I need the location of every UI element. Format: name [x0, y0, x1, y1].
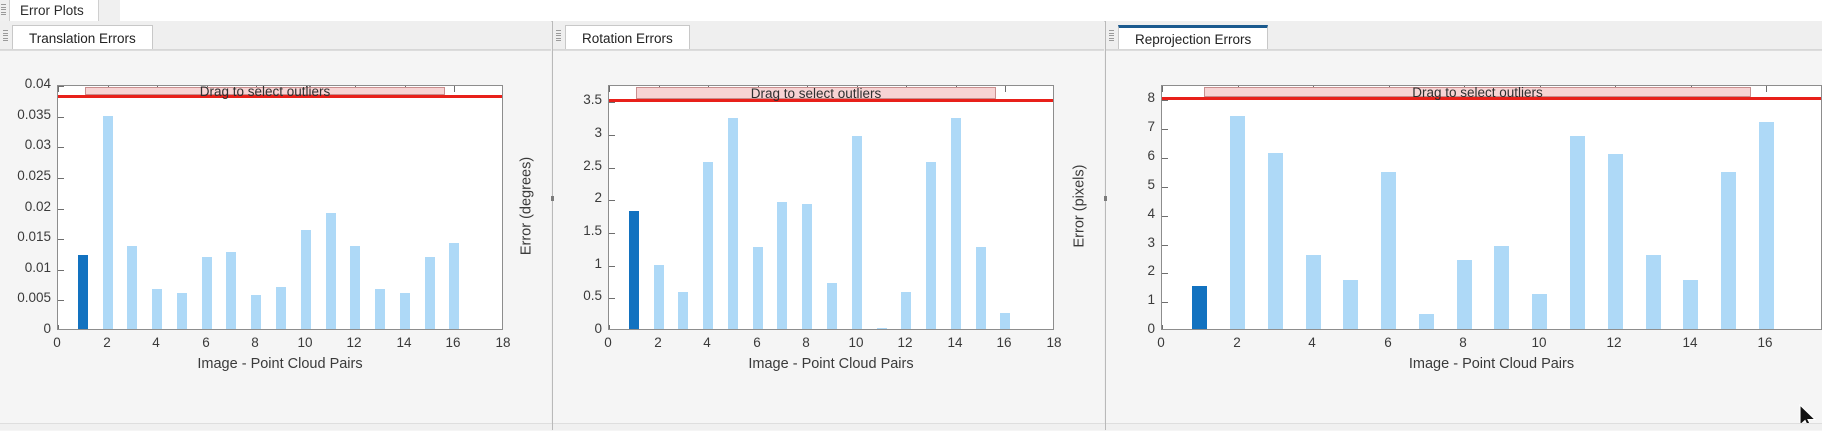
tab-error-plots-label: Error Plots: [20, 3, 84, 18]
bar[interactable]: [777, 202, 787, 329]
y-axis-tick-label: 3: [546, 125, 602, 140]
x-axis-tick-label: 8: [235, 335, 275, 350]
bar[interactable]: [1683, 280, 1698, 329]
bar[interactable]: [152, 289, 162, 329]
y-axis-tick: [609, 298, 615, 299]
bar[interactable]: [226, 252, 236, 329]
bar[interactable]: [728, 118, 738, 329]
x-axis-tick-label: 0: [588, 335, 628, 350]
x-axis-tick-top: [1766, 86, 1767, 92]
y-axis-tick: [1162, 216, 1168, 217]
y-axis-tick-label: 5: [1099, 177, 1155, 192]
bar[interactable]: [1306, 255, 1321, 329]
y-axis-tick-label: 7: [1099, 119, 1155, 134]
x-axis-tick-top: [1162, 86, 1163, 92]
y-axis-tick: [58, 147, 64, 148]
drag-to-select-outliers-band[interactable]: Drag to select outliers: [636, 87, 996, 99]
x-axis-tick-label: 16: [1745, 335, 1785, 350]
x-axis-title: Image - Point Cloud Pairs: [1161, 356, 1822, 372]
bar[interactable]: [1721, 172, 1736, 329]
outlier-band-label: Drag to select outliers: [751, 86, 882, 101]
x-axis-tick-label: 18: [483, 335, 523, 350]
bar[interactable]: [1608, 154, 1623, 329]
x-axis-tick: [1162, 325, 1163, 330]
tab-label: Translation Errors: [29, 31, 136, 46]
bar[interactable]: [301, 230, 311, 329]
y-axis-tick-label: 1: [1099, 292, 1155, 307]
y-axis-tick-label: 0.5: [546, 288, 602, 303]
bar[interactable]: [1457, 260, 1472, 329]
x-axis-tick-label: 12: [334, 335, 374, 350]
tab-error-plots[interactable]: Error Plots: [9, 0, 99, 21]
panel-body: Drag to select outliers00.0050.010.0150.…: [0, 50, 551, 431]
bar[interactable]: [678, 292, 688, 329]
x-axis-tick-label: 2: [87, 335, 127, 350]
bar[interactable]: [951, 118, 961, 329]
y-axis-tick-label: 0.015: [0, 229, 51, 244]
y-axis-tick-label: 2: [1099, 263, 1155, 278]
x-axis-tick-label: 0: [37, 335, 77, 350]
x-axis-tick-label: 8: [1443, 335, 1483, 350]
panel-reprojection-errors: Reprojection ErrorsDrag to select outlie…: [1106, 21, 1822, 430]
bar[interactable]: [926, 162, 936, 329]
y-axis-tick: [58, 209, 64, 210]
drag-grip-icon[interactable]: [1109, 30, 1114, 41]
panel-splitter[interactable]: [552, 21, 553, 430]
y-axis-tick: [609, 135, 615, 136]
bar[interactable]: [425, 257, 435, 329]
x-axis-tick-label: 8: [786, 335, 826, 350]
x-axis-tick-label: 18: [1034, 335, 1074, 350]
x-axis-tick-label: 6: [737, 335, 777, 350]
bar[interactable]: [202, 257, 212, 329]
y-axis-tick: [58, 300, 64, 301]
x-axis-tick-label: 16: [984, 335, 1024, 350]
x-axis-tick-label: 14: [935, 335, 975, 350]
bar[interactable]: [127, 246, 137, 329]
bar[interactable]: [1759, 122, 1774, 329]
x-axis-tick-top: [1005, 86, 1006, 92]
x-axis-tick-label: 10: [285, 335, 325, 350]
y-axis-tick: [609, 102, 615, 103]
bar[interactable]: [654, 265, 664, 329]
panel-tab-row: Rotation Errors: [553, 21, 1104, 50]
bar[interactable]: [400, 293, 410, 329]
drag-grip-icon[interactable]: [3, 30, 8, 41]
bar[interactable]: [251, 295, 261, 329]
y-axis-title: Error (degrees): [518, 83, 534, 328]
panel-body: Drag to select outliers01234567802468101…: [1106, 50, 1822, 431]
x-axis-tick-label: 2: [638, 335, 678, 350]
bar[interactable]: [1343, 280, 1358, 329]
outlier-band-label: Drag to select outliers: [200, 85, 331, 99]
y-axis-tick: [1162, 245, 1168, 246]
bar-selected[interactable]: [78, 255, 88, 329]
y-axis-tick: [609, 266, 615, 267]
y-axis-tick: [58, 178, 64, 179]
tab-reprojection-errors[interactable]: Reprojection Errors: [1118, 25, 1268, 50]
bar-selected[interactable]: [629, 211, 639, 329]
x-axis-tick-label: 12: [1594, 335, 1634, 350]
status-bar: [0, 423, 1822, 430]
x-axis-tick: [58, 325, 59, 330]
x-axis-tick: [609, 325, 610, 330]
plot-area[interactable]: Drag to select outliers: [57, 85, 503, 330]
bar[interactable]: [753, 247, 763, 329]
y-axis-tick-label: 0.04: [0, 76, 51, 91]
y-axis-tick: [1162, 129, 1168, 130]
panel-tab-row: Reprojection Errors: [1106, 21, 1822, 50]
bar[interactable]: [375, 289, 385, 329]
y-axis-tick-label: 4: [1099, 206, 1155, 221]
y-axis-tick-label: 0.025: [0, 168, 51, 183]
x-axis-title: Image - Point Cloud Pairs: [608, 356, 1054, 372]
x-axis-tick-label: 4: [1292, 335, 1332, 350]
x-axis-title: Image - Point Cloud Pairs: [57, 356, 503, 372]
x-axis-tick-label: 16: [433, 335, 473, 350]
x-axis-tick-label: 14: [384, 335, 424, 350]
y-axis-tick-label: 1: [546, 256, 602, 271]
bar[interactable]: [1381, 172, 1396, 329]
panel-body: Drag to select outliers00.511.522.533.50…: [553, 50, 1104, 431]
bar[interactable]: [1494, 246, 1509, 329]
y-axis-tick: [1162, 273, 1168, 274]
y-axis-tick-label: 0.02: [0, 199, 51, 214]
y-axis-tick-label: 2.5: [546, 158, 602, 173]
bar[interactable]: [1230, 116, 1245, 329]
x-axis-tick-top: [454, 86, 455, 92]
y-axis-tick-label: 0.005: [0, 290, 51, 305]
y-axis-tick-label: 1.5: [546, 223, 602, 238]
y-axis-tick: [58, 117, 64, 118]
y-axis-tick: [609, 233, 615, 234]
y-axis-tick-label: 0.03: [0, 137, 51, 152]
y-axis-tick: [1162, 158, 1168, 159]
x-axis-tick-label: 14: [1670, 335, 1710, 350]
y-axis-tick: [58, 270, 64, 271]
bar[interactable]: [276, 287, 286, 329]
y-axis-tick-label: 0.01: [0, 260, 51, 275]
document-tab-strip: Error Plots: [0, 0, 1822, 21]
x-axis-tick-label: 0: [1141, 335, 1181, 350]
y-axis-title: Error (pixels): [1071, 83, 1087, 328]
bar[interactable]: [852, 136, 862, 329]
bar[interactable]: [976, 247, 986, 329]
bar[interactable]: [326, 213, 336, 329]
y-axis-tick-label: 0: [0, 321, 51, 336]
y-axis-tick-label: 2: [546, 190, 602, 205]
bar[interactable]: [877, 328, 887, 329]
bar[interactable]: [901, 292, 911, 329]
y-axis-tick-label: 0: [546, 321, 602, 336]
drag-to-select-outliers-band[interactable]: Drag to select outliers: [85, 87, 445, 95]
y-axis-tick-label: 6: [1099, 148, 1155, 163]
bar[interactable]: [802, 204, 812, 329]
outlier-band-label: Drag to select outliers: [1412, 85, 1543, 100]
bar[interactable]: [1646, 255, 1661, 329]
y-axis-tick-label: 8: [1099, 90, 1155, 105]
y-axis-tick: [609, 168, 615, 169]
tab-rotation-errors[interactable]: Rotation Errors: [565, 25, 690, 50]
drag-grip-icon[interactable]: [556, 30, 561, 41]
x-axis-tick-label: 2: [1217, 335, 1257, 350]
x-axis-tick-label: 6: [1368, 335, 1408, 350]
bar[interactable]: [827, 283, 837, 329]
tab-strip-filler: [120, 0, 1822, 22]
bar[interactable]: [1532, 294, 1547, 329]
panel-splitter[interactable]: [1105, 21, 1106, 430]
x-axis-tick-label: 6: [186, 335, 226, 350]
bar[interactable]: [1570, 136, 1585, 329]
x-axis-tick-label: 10: [1519, 335, 1559, 350]
bar[interactable]: [103, 116, 113, 329]
bar[interactable]: [703, 162, 713, 329]
panel-rotation-errors: Rotation ErrorsDrag to select outliers00…: [553, 21, 1104, 430]
y-axis-tick-label: 3.5: [546, 92, 602, 107]
x-axis-tick-label: 4: [687, 335, 727, 350]
bar[interactable]: [1419, 314, 1434, 329]
x-axis-tick-label: 12: [885, 335, 925, 350]
y-axis-tick: [58, 239, 64, 240]
bar[interactable]: [350, 246, 360, 329]
error-plots-window: Error Plots Translation ErrorsDrag to se…: [0, 0, 1822, 430]
tab-label: Rotation Errors: [582, 31, 673, 46]
plot-area[interactable]: Drag to select outliers: [608, 85, 1054, 330]
bar[interactable]: [1000, 313, 1010, 329]
bar[interactable]: [449, 243, 459, 329]
y-axis-tick: [1162, 302, 1168, 303]
x-axis-tick-label: 4: [136, 335, 176, 350]
tab-translation-errors[interactable]: Translation Errors: [12, 25, 153, 50]
splitter-handle-dot: [551, 196, 554, 201]
bar-selected[interactable]: [1192, 286, 1207, 329]
y-axis-tick: [1162, 187, 1168, 188]
x-axis-tick-top: [609, 86, 610, 92]
drag-grip-icon[interactable]: [1, 4, 6, 15]
bar[interactable]: [177, 293, 187, 329]
panel-translation-errors: Translation ErrorsDrag to select outlier…: [0, 21, 551, 430]
y-axis-tick: [609, 200, 615, 201]
x-axis-tick-label: 10: [836, 335, 876, 350]
y-axis-tick: [1162, 100, 1168, 101]
y-axis-tick-label: 0: [1099, 321, 1155, 336]
splitter-handle-dot: [1104, 196, 1107, 201]
y-axis-tick-label: 3: [1099, 235, 1155, 250]
drag-to-select-outliers-band[interactable]: Drag to select outliers: [1204, 87, 1751, 97]
bar[interactable]: [1268, 153, 1283, 329]
x-axis-tick-top: [58, 86, 59, 92]
panel-tab-row: Translation Errors: [0, 21, 551, 50]
y-axis-tick-label: 0.035: [0, 107, 51, 122]
plot-area[interactable]: Drag to select outliers: [1161, 85, 1822, 330]
tab-label: Reprojection Errors: [1135, 32, 1251, 47]
